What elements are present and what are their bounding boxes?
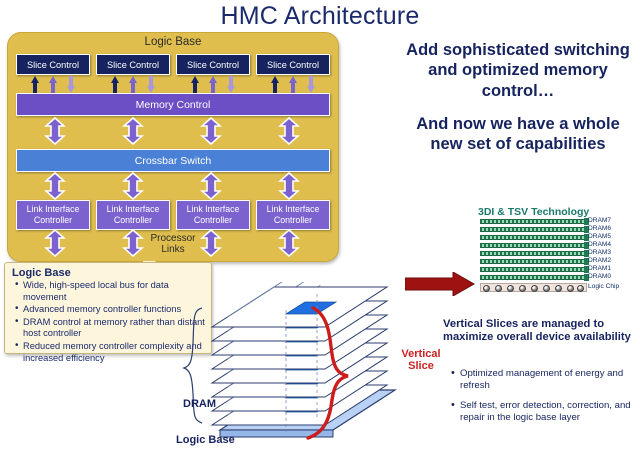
bidirectional-arrow-icon <box>278 117 300 143</box>
memory-control-block[interactable]: Memory Control <box>16 93 330 116</box>
bidirectional-arrow-cell <box>16 172 94 198</box>
lic-label-line1: Link Interface <box>27 204 80 215</box>
page-title: HMC Architecture <box>0 2 640 31</box>
slice-control-block[interactable]: Slice Control <box>16 54 90 75</box>
bidirectional-arrow-icon <box>278 229 300 255</box>
slide-canvas: HMC Architecture Logic Base Slice Contro… <box>0 0 640 453</box>
slice-control-block[interactable]: Slice Control <box>176 54 250 75</box>
processor-link-arrows <box>16 229 328 255</box>
solder-bump-icon <box>531 285 538 292</box>
link-interface-controller-row: Link Interface Controller Link Interface… <box>16 200 330 230</box>
arrow-up-icon <box>191 76 200 93</box>
bidirectional-arrow-icon <box>278 172 300 198</box>
bidirectional-arrow-icon <box>200 229 222 255</box>
bidirectional-arrow-icon <box>122 229 144 255</box>
dram-bracket-label: DRAM <box>183 398 216 410</box>
slice-control-row: Slice Control Slice Control Slice Contro… <box>16 54 330 75</box>
vertical-slices-bullet-list: Optimized management of energy and refre… <box>450 368 640 433</box>
solder-bump-icon <box>519 285 526 292</box>
bidirectional-arrow-icon <box>44 229 66 255</box>
signal-arrow-group <box>96 76 170 93</box>
solder-bump-icon <box>577 285 584 292</box>
bidirectional-arrow-cell <box>94 229 172 255</box>
solder-bump-icon <box>555 285 562 292</box>
logic-base-stack-label: Logic Base <box>176 434 235 446</box>
lic-label-line2: Controller <box>34 215 72 226</box>
crossbar-switch-block[interactable]: Crossbar Switch <box>16 149 330 172</box>
arrow-down-icon <box>147 76 156 93</box>
bidirectional-arrow-icon <box>122 117 144 143</box>
vertical-slices-heading: Vertical Slices are managed to maximize … <box>443 318 633 345</box>
bidirectional-arrow-cell <box>172 229 250 255</box>
headline-part-2: And now we have a whole new set of capab… <box>398 114 638 155</box>
dram-layer-label: DRAM3 <box>588 250 611 257</box>
bidirectional-arrow-cell <box>172 117 250 143</box>
bidirectional-arrow-icon <box>44 172 66 198</box>
vertical-slice-label: Vertical Slice <box>392 348 450 373</box>
bidirectional-arrow-cell <box>250 172 328 198</box>
callout-bullet-list: Wide, high-speed local bus for data move… <box>12 280 205 364</box>
dram-layer-strip <box>480 227 585 232</box>
bidirectional-arrow-cell <box>94 117 172 143</box>
slice-control-block[interactable]: Slice Control <box>96 54 170 75</box>
logic-base-heading: Logic Base <box>8 36 338 48</box>
dram-layer-strip <box>480 259 585 264</box>
arrow-up-icon <box>129 76 138 93</box>
bidirectional-arrow-cell <box>16 229 94 255</box>
dram-layer-strip <box>480 219 585 224</box>
bidirectional-arrow-icon <box>200 117 222 143</box>
arrow-up-icon <box>31 76 40 93</box>
bidirectional-arrow-icon <box>44 117 66 143</box>
callout-heading: Logic Base <box>12 267 205 279</box>
arrow-up-icon <box>111 76 120 93</box>
arrow-up-icon <box>271 76 280 93</box>
logic-base-diagram: Logic Base Slice Control Slice Control S… <box>7 32 339 262</box>
dram-layer-label: DRAM4 <box>588 242 611 249</box>
vertical-slice-line2: Slice <box>392 360 450 372</box>
dram-layer-label: DRAM2 <box>588 258 611 265</box>
dram-layer-label: DRAM6 <box>588 226 611 233</box>
arrow-down-icon <box>67 76 76 93</box>
callout-bullet: Reduced memory controller complexity and… <box>23 341 205 364</box>
bidirectional-arrow-icon <box>122 172 144 198</box>
vertical-slice-line1: Vertical <box>392 348 450 360</box>
vertical-slices-bullet: Optimized management of energy and refre… <box>460 368 640 391</box>
slice-signal-arrows <box>16 76 330 93</box>
solder-bump-icon <box>567 285 574 292</box>
bidirectional-arrow-cell <box>250 229 328 255</box>
lic-label-line2: Controller <box>274 215 312 226</box>
slice-control-block[interactable]: Slice Control <box>256 54 330 75</box>
logic-chip-label: Logic Chip <box>588 283 619 290</box>
bidirectional-arrow-cell <box>172 172 250 198</box>
arrow-up-icon <box>49 76 58 93</box>
dram-layer-strip <box>480 275 585 280</box>
arrow-up-icon <box>289 76 298 93</box>
bidirectional-arrow-cell <box>94 172 172 198</box>
signal-arrow-group <box>176 76 250 93</box>
arrow-up-icon <box>209 76 218 93</box>
bidirectional-arrow-cell <box>16 117 94 143</box>
dram-layer-label: DRAM0 <box>588 274 611 281</box>
headline-text: Add sophisticated switching and optimize… <box>398 40 638 154</box>
solder-bump-icon <box>483 285 490 292</box>
lic-label-line1: Link Interface <box>187 204 240 215</box>
bidirectional-arrow-icon <box>200 172 222 198</box>
lic-label-line2: Controller <box>114 215 152 226</box>
tsv-section-title: 3DI & TSV Technology <box>478 206 589 218</box>
vertical-slices-bullet: Self test, error detection, correction, … <box>460 400 640 423</box>
dram-layer-strip <box>480 235 585 240</box>
signal-arrow-group <box>16 76 90 93</box>
dram-layer-strip <box>480 251 585 256</box>
lic-label-line1: Link Interface <box>107 204 160 215</box>
link-interface-controller-block[interactable]: Link Interface Controller <box>256 200 330 230</box>
solder-bump-icon <box>507 285 514 292</box>
headline-part-1: Add sophisticated switching and optimize… <box>406 41 630 100</box>
callout-bullet: DRAM control at memory rather than dista… <box>23 317 205 340</box>
lic-label-line1: Link Interface <box>267 204 320 215</box>
callout-bullet: Wide, high-speed local bus for data move… <box>23 280 205 303</box>
tsv-stack-illustration: DRAM7 DRAM6 DRAM5 DRAM4 DRAM3 DRAM2 DRAM… <box>480 219 635 291</box>
dram-layer-label: DRAM5 <box>588 234 611 241</box>
dram-3d-stack-illustration <box>180 282 415 453</box>
bidirectional-arrow-cell <box>250 117 328 143</box>
link-interface-controller-block[interactable]: Link Interface Controller <box>96 200 170 230</box>
solder-bump-icon <box>495 285 502 292</box>
arrow-down-icon <box>227 76 236 93</box>
signal-arrow-group <box>256 76 330 93</box>
solder-bump-icon <box>543 285 550 292</box>
dram-layer-strip <box>480 243 585 248</box>
red-pointer-arrow-icon <box>405 272 475 301</box>
arrow-down-icon <box>307 76 316 93</box>
link-interface-controller-block[interactable]: Link Interface Controller <box>16 200 90 230</box>
crossbar-lic-arrows <box>16 172 328 198</box>
lic-label-line2: Controller <box>194 215 232 226</box>
link-interface-controller-block[interactable]: Link Interface Controller <box>176 200 250 230</box>
callout-bullet: Advanced memory controller functions <box>23 304 205 316</box>
dram-layer-strip <box>480 267 585 272</box>
dram-layer-label: DRAM1 <box>588 266 611 273</box>
memctl-crossbar-arrows <box>16 117 328 143</box>
dram-layer-label: DRAM7 <box>588 218 611 225</box>
